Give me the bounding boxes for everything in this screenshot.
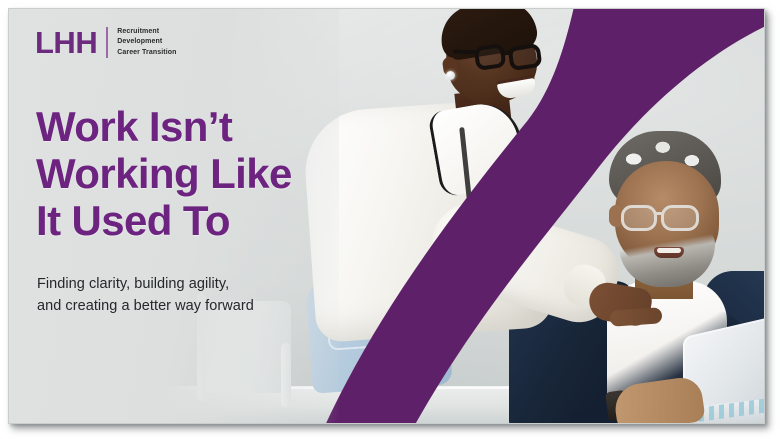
headline-line-1: Work Isn’t	[36, 103, 292, 150]
subhead-line-2: and creating a better way forward	[37, 295, 254, 317]
slide-card: LHH Recruitment Development Career Trans…	[8, 8, 765, 424]
logo-tagline: Recruitment Development Career Transitio…	[117, 27, 176, 57]
logo-tagline-line-2: Development	[117, 37, 176, 47]
page-subtitle: Finding clarity, building agility, and c…	[37, 273, 254, 317]
man-eyeglass-bridge	[655, 212, 664, 215]
page-title: Work Isn’t Working Like It Used To	[36, 103, 292, 244]
headline-line-3: It Used To	[36, 197, 292, 244]
subhead-line-1: Finding clarity, building agility,	[37, 273, 254, 295]
man-eyeglass-right	[661, 205, 699, 231]
headline-line-2: Working Like	[36, 150, 292, 197]
woman-earring	[446, 71, 455, 80]
logo-wordmark: LHH	[35, 27, 97, 58]
lhh-logo: LHH Recruitment Development Career Trans…	[35, 27, 177, 58]
logo-tagline-line-1: Recruitment	[117, 27, 176, 37]
man-eyeglass-left	[621, 205, 657, 231]
logo-divider	[106, 27, 108, 58]
logo-tagline-line-3: Career Transition	[117, 48, 176, 58]
man-teeth	[657, 248, 681, 253]
